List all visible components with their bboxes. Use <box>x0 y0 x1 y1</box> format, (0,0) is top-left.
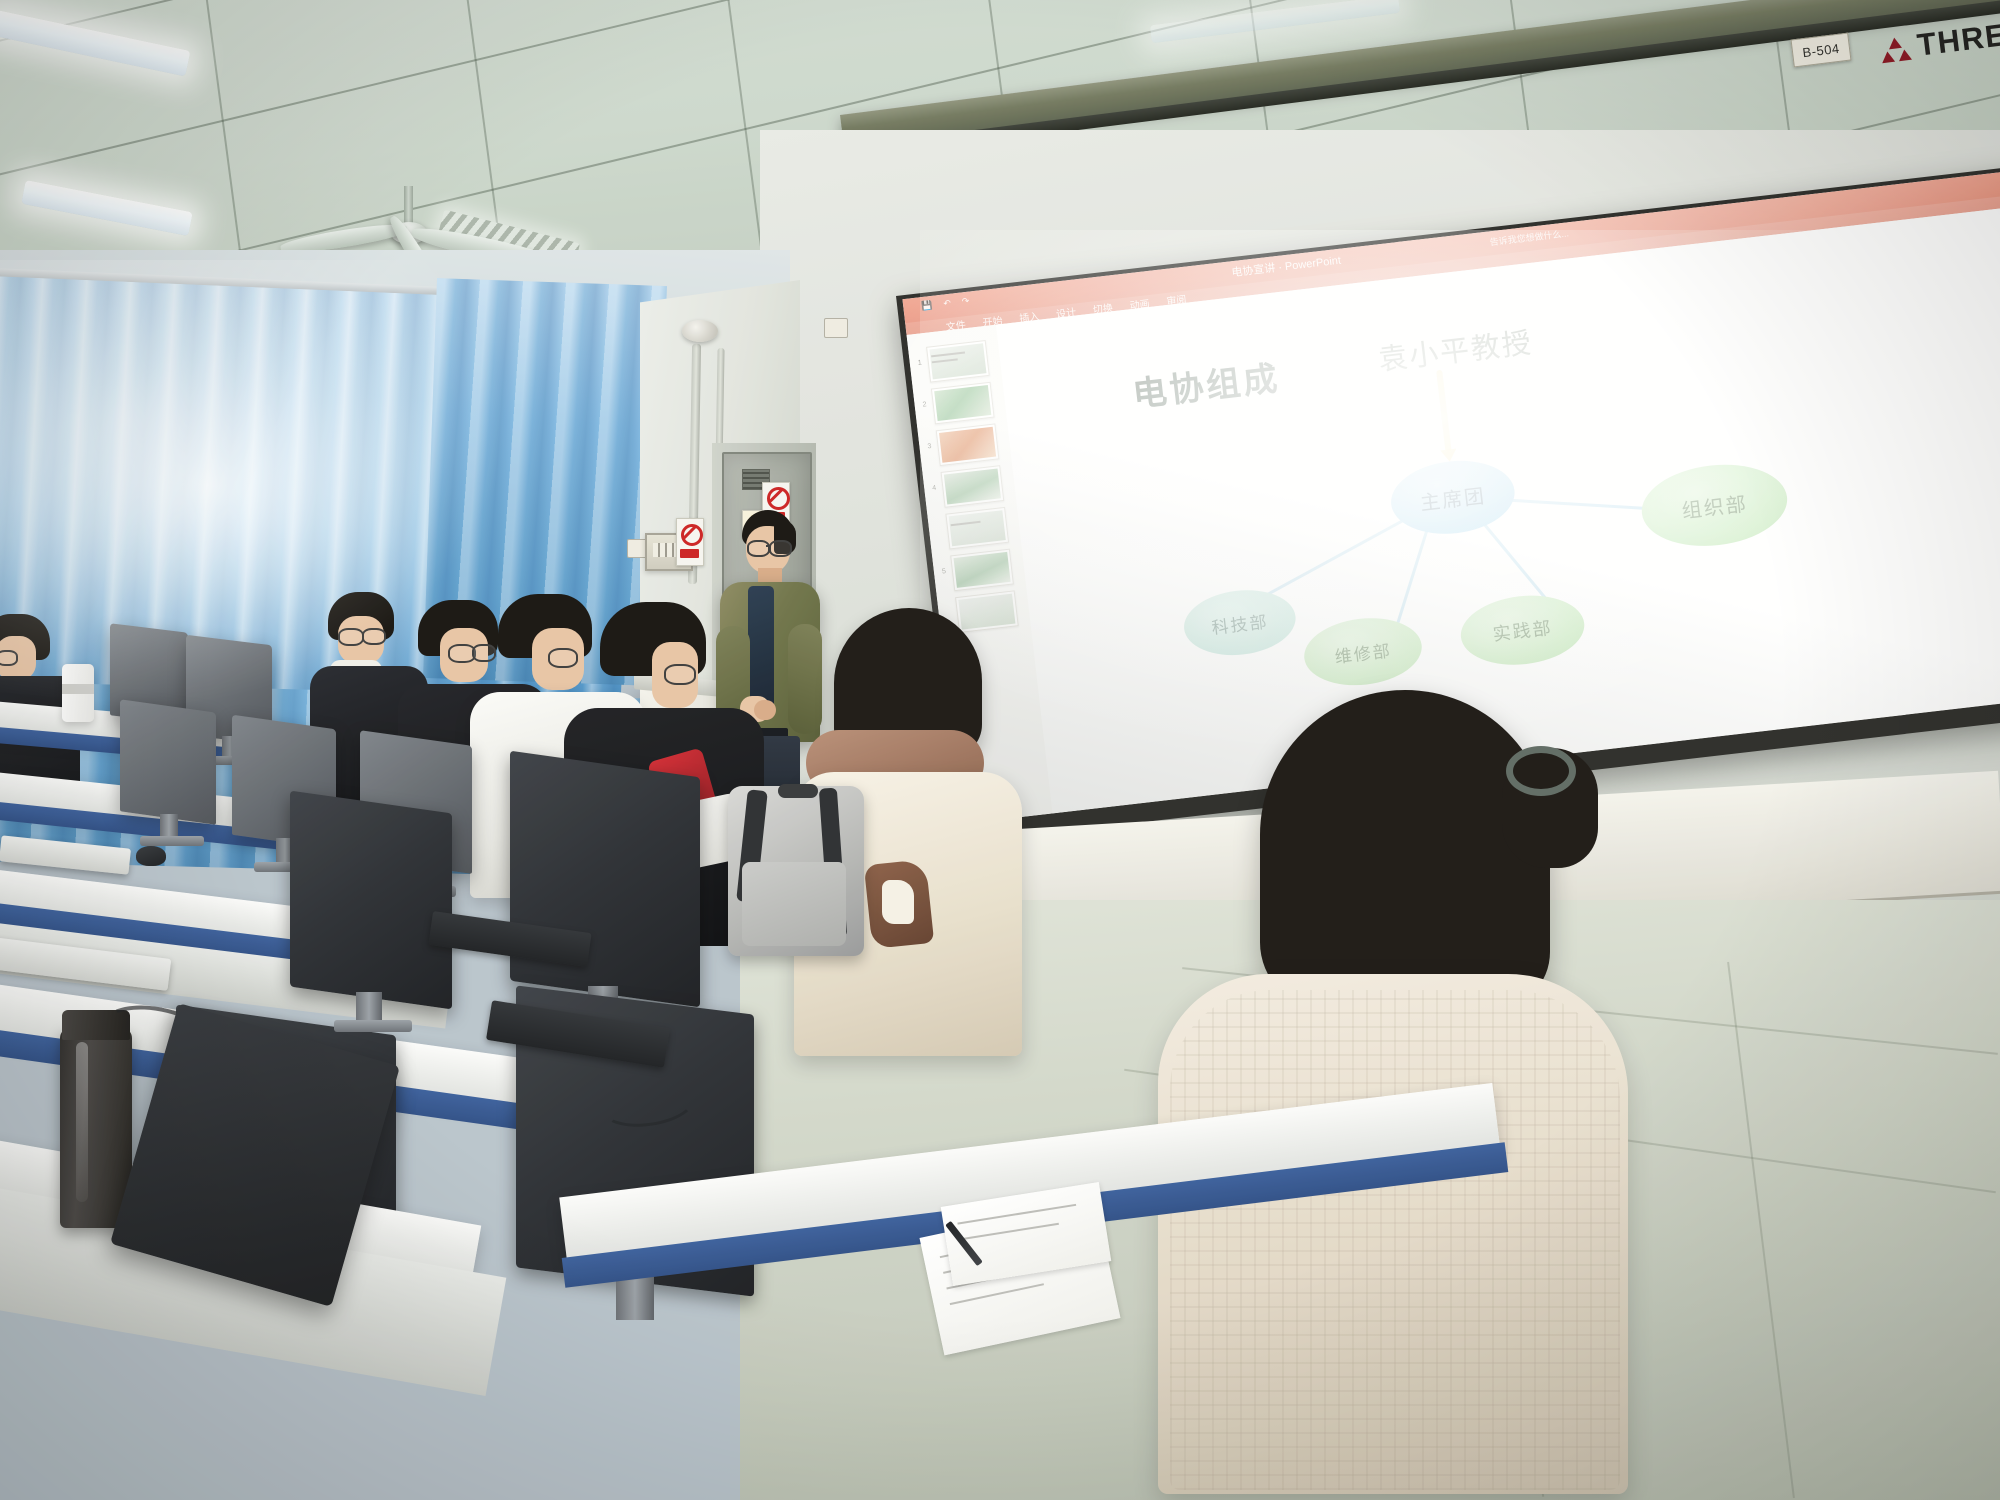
diagram-node-child: 实践部 <box>1457 589 1588 671</box>
slide-thumbnail-number: 5 <box>942 568 947 575</box>
slide-thumbnail[interactable] <box>950 549 1014 592</box>
slide-thumbnail[interactable] <box>926 340 990 383</box>
wall-socket-icon <box>824 318 848 338</box>
slide-thumbnail[interactable] <box>945 507 1009 550</box>
glasses-icon <box>664 664 696 685</box>
diagram-node-child: 维修部 <box>1301 612 1426 691</box>
diagram-node-root-label: 主席团 <box>1418 479 1487 515</box>
student-hair <box>1260 690 1550 1010</box>
glasses-icon <box>0 650 18 666</box>
slide-thumbnail-number: 3 <box>927 443 932 450</box>
glasses-icon <box>362 628 386 645</box>
hair-tie-icon <box>1506 746 1576 796</box>
slide-thumbnail-number: 4 <box>932 485 937 492</box>
diagram-node-child: 组织部 <box>1637 457 1791 553</box>
diagram-node-child-label: 科技部 <box>1210 607 1269 638</box>
sweater-texture <box>1170 990 1620 1490</box>
mouse[interactable] <box>136 846 166 866</box>
slide-thumbnail[interactable] <box>941 465 1005 508</box>
ppt-search-hint[interactable]: 告诉我您想做什么... <box>1489 226 1569 248</box>
glasses-icon <box>769 540 792 557</box>
diagram-node-root: 主席团 <box>1387 454 1518 540</box>
backpack-pocket <box>742 862 846 946</box>
slide-presenter-name: 袁小平教授 <box>1376 319 1535 379</box>
slide-title: 电协组成 <box>1130 351 1283 417</box>
save-icon[interactable]: 💾 <box>921 300 933 312</box>
slide-thumbnail[interactable] <box>936 423 1000 466</box>
diagram-node-child-label: 组织部 <box>1680 487 1749 523</box>
redo-icon[interactable]: ↷ <box>961 296 970 308</box>
smoke-detector-icon <box>682 320 718 342</box>
diagram-node-child-label: 维修部 <box>1333 636 1392 667</box>
ppt-quick-access-toolbar[interactable]: 💾 ↶ ↷ <box>921 296 970 312</box>
undo-icon[interactable]: ↶ <box>943 298 952 310</box>
paper-cup-icon <box>62 664 94 722</box>
slide-thumbnail-number: 1 <box>917 360 922 367</box>
diagram-edge <box>1247 508 1424 606</box>
glasses-icon <box>747 540 770 557</box>
slide-thumbnail[interactable] <box>931 382 995 425</box>
classroom-photo: B-504 THREEL <box>0 0 2000 1500</box>
slide-thumbnail-number: 2 <box>922 401 927 408</box>
room-number-text: B-504 <box>1802 40 1841 59</box>
diagram-stem-connector <box>1436 370 1451 452</box>
glasses-icon <box>338 628 364 646</box>
mitsubishi-three-diamond-icon <box>1879 33 1912 63</box>
no-entry-sign-icon <box>676 518 704 566</box>
thermos-highlight <box>76 1042 88 1202</box>
monitor <box>120 706 230 846</box>
glasses-bridge <box>766 545 771 547</box>
jacket-graphic-inner <box>882 880 914 924</box>
diagram-node-child-label: 实践部 <box>1491 614 1554 647</box>
diagram-node-child: 科技部 <box>1181 584 1300 660</box>
backpack-handle <box>778 784 818 798</box>
